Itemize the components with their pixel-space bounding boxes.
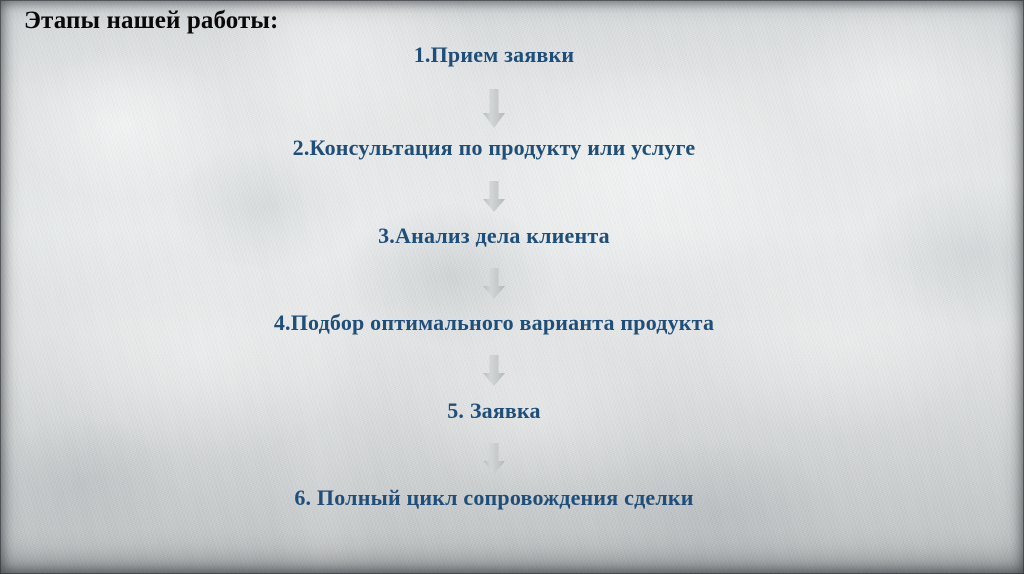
arrow-down-icon [482, 268, 506, 300]
arrow-down-icon [482, 181, 506, 213]
flow-step-6: 6. Полный цикл сопровождения сделки [0, 485, 1024, 511]
step-label-1: 1.Прием заявки [414, 42, 575, 68]
step-label-4: 4.Подбор оптимального варианта продукта [274, 310, 714, 336]
connector-row-3 [0, 268, 1024, 300]
flow-step-2: 2.Консультация по продукту или услуге [0, 135, 1024, 161]
flow-step-4: 4.Подбор оптимального варианта продукта [0, 310, 1024, 336]
connector-row-2 [0, 181, 1024, 213]
step-label-5: 5. Заявка [447, 398, 541, 424]
connector-row-5 [0, 443, 1024, 475]
flow-step-3: 3.Анализ дела клиента [0, 223, 1024, 249]
presentation-slide: Этапы нашей работы: 1.Прием заявки [0, 0, 1024, 574]
step-label-6: 6. Полный цикл сопровождения сделки [294, 485, 693, 511]
flow-step-5: 5. Заявка [0, 398, 1024, 424]
arrow-down-icon [482, 355, 506, 387]
connector-row-4 [0, 355, 1024, 387]
connector-row-1 [0, 89, 1024, 129]
arrow-down-icon [482, 443, 506, 475]
step-label-2: 2.Консультация по продукту или услуге [293, 135, 696, 161]
step-label-3: 3.Анализ дела клиента [378, 223, 610, 249]
process-flow-diagram: 1.Прием заявки [0, 42, 1024, 511]
page-title: Этапы нашей работы: [24, 7, 278, 35]
slide-content: Этапы нашей работы: 1.Прием заявки [0, 0, 1024, 574]
flow-step-1: 1.Прием заявки [0, 42, 1024, 68]
arrow-down-icon [482, 89, 506, 129]
